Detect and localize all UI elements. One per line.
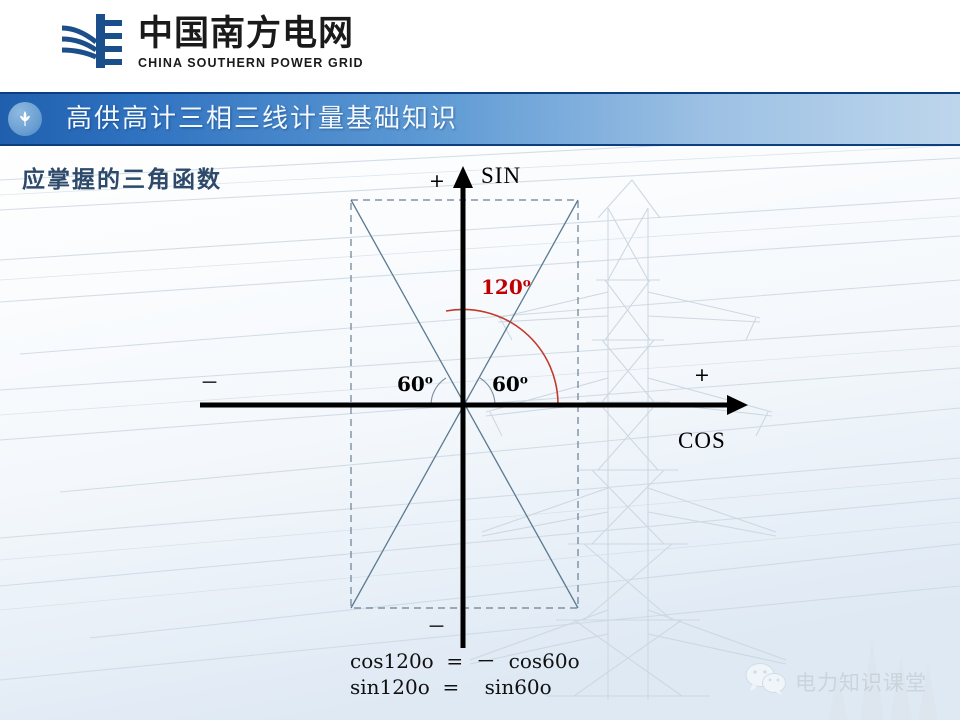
wechat-icon xyxy=(745,662,787,701)
sign-minus-bottom: － xyxy=(427,612,446,639)
sign-plus-top: + xyxy=(429,170,445,192)
angle-label-120: 120o xyxy=(481,275,531,299)
wechat-watermark: 电力知识课堂 xyxy=(745,662,927,701)
angle-60-right-value: 60 xyxy=(492,372,520,396)
angle-label-60-right: 60o xyxy=(492,372,528,396)
angle-60-left-value: 60 xyxy=(397,372,425,396)
angle-120-degree-symbol: o xyxy=(523,275,531,289)
trig-phasor-diagram: SIN COS + + － － 120o 60o 60o xyxy=(0,0,960,720)
wechat-watermark-text: 电力知识课堂 xyxy=(795,667,927,697)
slide-canvas: 中国南方电网 CHINA SOUTHERN POWER GRID 高供高计三相三… xyxy=(0,0,960,720)
axis-lines xyxy=(200,166,748,648)
formula-sin: sin120o = sin60o xyxy=(350,674,580,700)
angle-label-60-left: 60o xyxy=(397,372,433,396)
formula-cos: cos120o = － cos60o xyxy=(350,648,580,674)
sign-minus-left: － xyxy=(200,368,219,395)
axis-label-sin: SIN xyxy=(481,163,521,189)
formula-block: cos120o = － cos60o sin120o = sin60o xyxy=(350,648,580,700)
angle-60-left-degree-symbol: o xyxy=(425,372,433,386)
axis-label-cos: COS xyxy=(678,428,726,454)
sign-plus-right: + xyxy=(694,364,710,386)
angle-120-value: 120 xyxy=(481,275,523,299)
angle-60-right-degree-symbol: o xyxy=(520,372,528,386)
